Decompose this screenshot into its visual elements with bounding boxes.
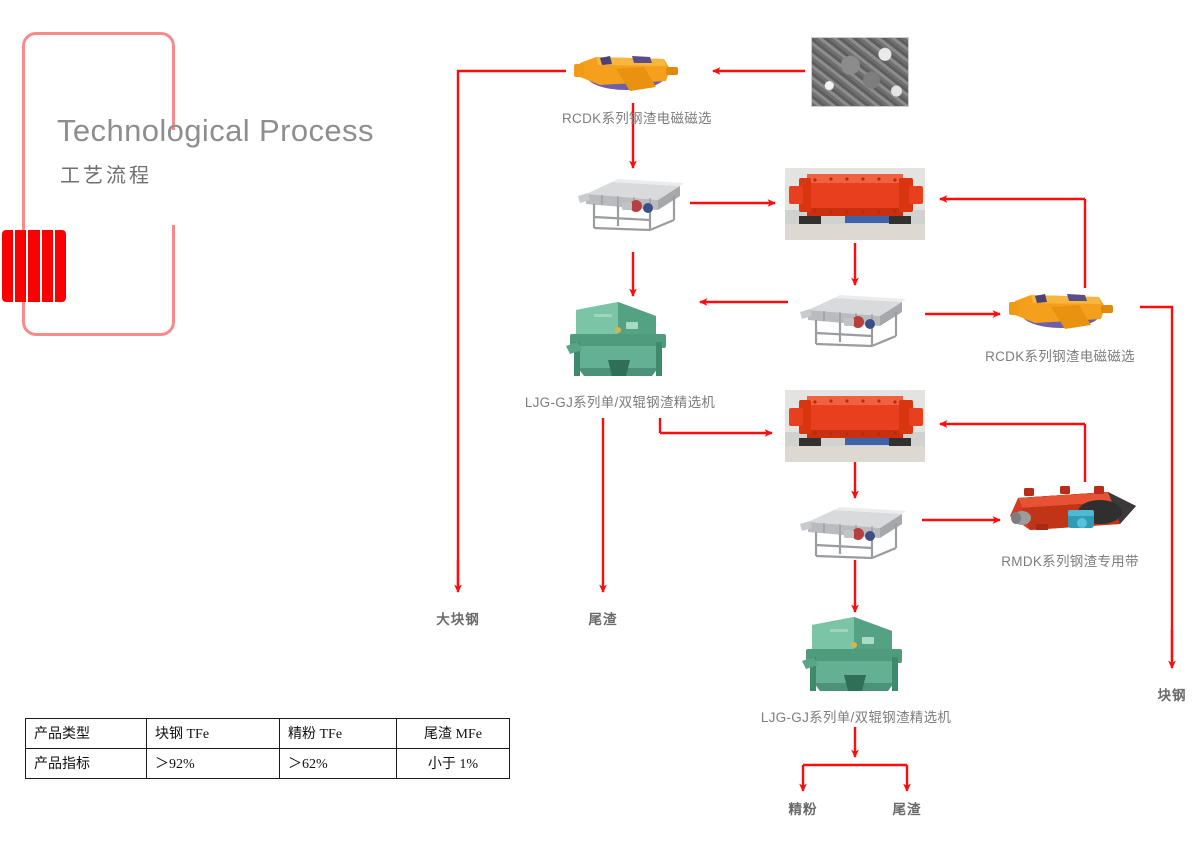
- table-cell: ＞62%: [280, 749, 397, 779]
- node-rmdk-caption: RMDK系列钢渣专用带: [970, 550, 1170, 570]
- table-cell: 小于 1%: [397, 749, 510, 779]
- output-label-concentrate: 精粉: [753, 798, 853, 818]
- ball-mill-icon: [785, 168, 925, 240]
- node-ljg-bottom-caption: LJG-GJ系列单/双辊钢渣精选机: [741, 706, 971, 726]
- vibrating-screen-icon: [800, 500, 908, 562]
- node-vibrating-screen-1: [578, 172, 686, 234]
- accent-bars-decoration: [2, 230, 66, 302]
- rcdk-magnetic-separator-icon: [1005, 285, 1115, 337]
- rcdk-magnetic-separator-icon: [570, 47, 680, 99]
- table-header-cell: 块钢 TFe: [147, 719, 280, 749]
- output-label-tailings-2: 尾渣: [857, 798, 957, 818]
- rmdk-belt-magnet-icon: [1000, 480, 1140, 542]
- vibrating-screen-icon: [578, 172, 686, 234]
- node-raw-material: [811, 37, 909, 107]
- node-rcdk-top-caption: RCDK系列钢渣电磁磁选: [562, 107, 672, 127]
- table-cell: 产品指标: [26, 749, 147, 779]
- vibrating-screen-icon: [800, 288, 908, 350]
- page-title-english: Technological Process: [57, 113, 374, 149]
- node-rcdk-right: RCDK系列钢渣电磁磁选: [1005, 285, 1155, 365]
- node-rmdk-belt: RMDK系列钢渣专用带: [1000, 480, 1170, 570]
- node-rcdk-top: RCDK系列钢渣电磁磁选: [570, 47, 680, 127]
- ball-mill-icon: [785, 390, 925, 462]
- output-label-tailings-1: 尾渣: [553, 608, 653, 628]
- node-ball-mill-1: [785, 168, 925, 240]
- node-vibrating-screen-3: [800, 500, 908, 562]
- page-title-chinese: 工艺流程: [60, 159, 152, 188]
- table-header-cell: 产品类型: [26, 719, 147, 749]
- ljg-roll-separator-icon: [800, 615, 912, 697]
- node-ljg-mid-caption: LJG-GJ系列单/双辊钢渣精选机: [505, 391, 735, 411]
- node-ball-mill-2: [785, 390, 925, 462]
- output-label-big-steel: 大块钢: [408, 608, 508, 628]
- node-ljg-separator-bottom: LJG-GJ系列单/双辊钢渣精选机: [800, 615, 971, 726]
- table-header-cell: 尾渣 MFe: [397, 719, 510, 749]
- wire-rcdk-top-to-bigsteel: [458, 71, 566, 588]
- table-header-cell: 精粉 TFe: [280, 719, 397, 749]
- table-row-header: 产品类型 块钢 TFe 精粉 TFe 尾渣 MFe: [26, 719, 510, 749]
- node-vibrating-screen-2: [800, 288, 908, 350]
- ljg-roll-separator-icon: [564, 300, 676, 382]
- node-rcdk-right-caption: RCDK系列钢渣电磁磁选: [965, 345, 1155, 365]
- table-cell: ＞92%: [147, 749, 280, 779]
- product-spec-table: 产品类型 块钢 TFe 精粉 TFe 尾渣 MFe 产品指标 ＞92% ＞62%…: [25, 718, 510, 779]
- raw-material-photo: [811, 37, 909, 107]
- output-label-lump-steel: 块钢: [1122, 684, 1200, 704]
- table-row-values: 产品指标 ＞92% ＞62% 小于 1%: [26, 749, 510, 779]
- node-ljg-separator-mid: LJG-GJ系列单/双辊钢渣精选机: [564, 300, 735, 411]
